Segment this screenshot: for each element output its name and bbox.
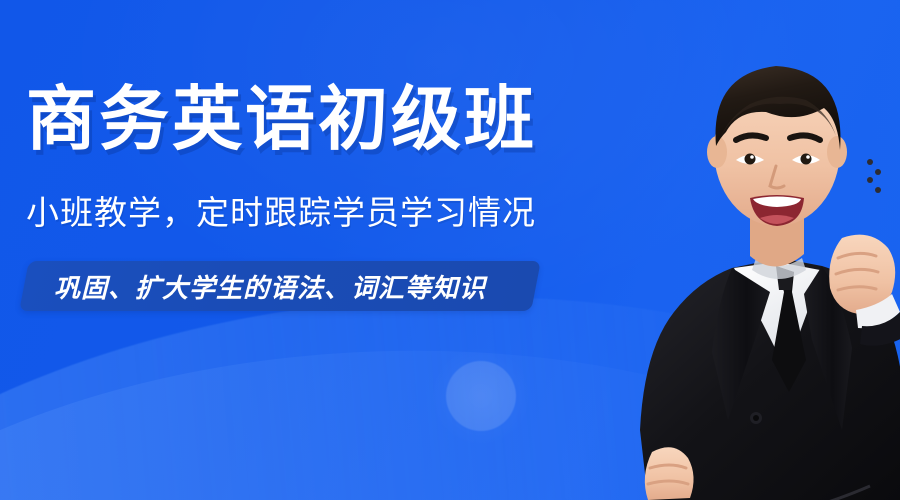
course-promo-banner: 商务英语初级班 小班教学，定时跟踪学员学习情况 巩固、扩大学生的语法、词汇等知识 <box>0 0 900 500</box>
banner-subtitle: 小班教学，定时跟踪学员学习情况 <box>26 192 536 234</box>
page-title: 商务英语初级班 <box>26 78 537 160</box>
banner-text-content: 商务英语初级班 小班教学，定时跟踪学员学习情况 巩固、扩大学生的语法、词汇等知识 <box>0 0 620 500</box>
tagline-label: 巩固、扩大学生的语法、词汇等知识 <box>54 261 486 311</box>
